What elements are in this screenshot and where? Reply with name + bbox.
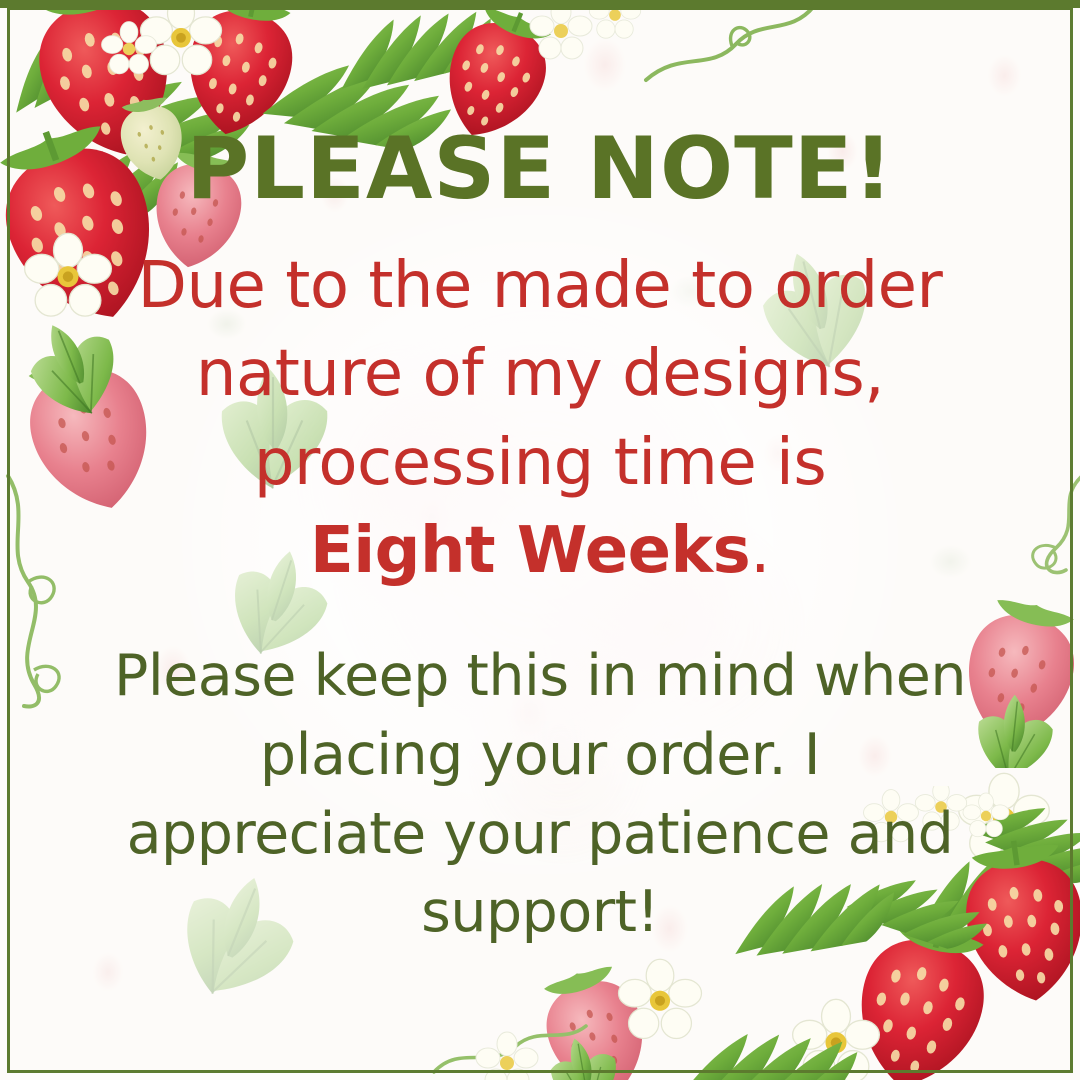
closing-line-1: Please keep this in mind when <box>60 637 1020 716</box>
notice-line-2: nature of my designs, <box>60 330 1020 418</box>
notice-line-1: Due to the made to order <box>60 242 1020 330</box>
text-content: PLEASE NOTE! Due to the made to order na… <box>0 0 1080 1080</box>
notice-emphasis-suffix: . <box>750 514 770 588</box>
closing-message: Please keep this in mind when placing yo… <box>60 637 1020 952</box>
processing-time-notice: Due to the made to order nature of my de… <box>60 242 1020 595</box>
closing-line-2: placing your order. I <box>60 716 1020 795</box>
closing-line-3: appreciate your patience and <box>60 795 1020 874</box>
processing-time-value: Eight Weeks <box>310 514 750 588</box>
notice-emphasis-line: Eight Weeks. <box>60 507 1020 595</box>
closing-line-4: support! <box>60 873 1020 952</box>
notice-line-3: processing time is <box>60 419 1020 507</box>
announcement-card: PLEASE NOTE! Due to the made to order na… <box>0 0 1080 1080</box>
page-title: PLEASE NOTE! <box>186 126 893 212</box>
